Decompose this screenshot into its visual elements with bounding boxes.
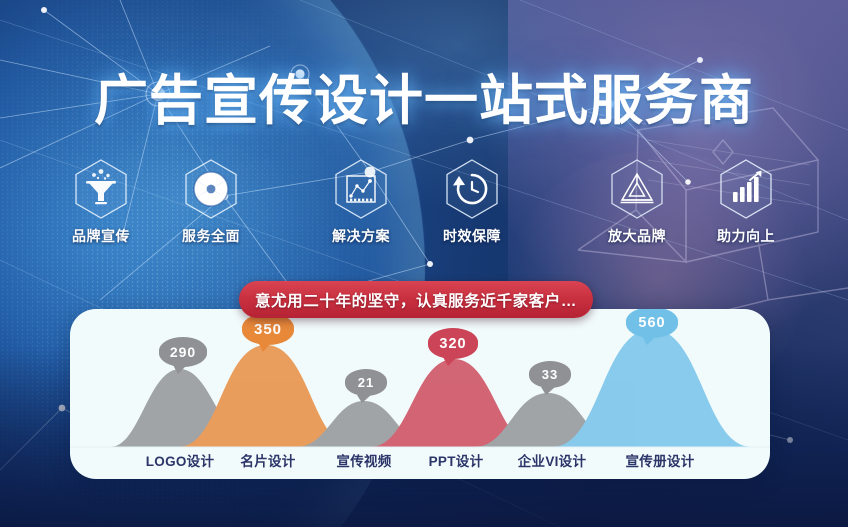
poster-canvas: 广告宣传设计一站式服务商 品牌宣 [0,0,848,527]
feature-item-1[interactable]: 品牌宣传 [53,158,149,246]
clock-arrow-icon [443,158,501,220]
bar-growth-icon [717,158,775,220]
value-bubble-vi: 33 [529,361,571,388]
feature-label-5: 放大品牌 [589,226,685,246]
feature-row: 品牌宣传 服务全面 [0,158,848,250]
category-label-4: PPT设计 [408,450,504,470]
feature-label-4: 时效保障 [424,226,520,246]
value-bubble-ppt: 320 [428,328,478,359]
feature-label-2: 服务全面 [163,226,259,246]
line-chart-icon [332,158,390,220]
feature-label-1: 品牌宣传 [53,226,149,246]
category-label-2: 名片设计 [220,450,316,470]
category-label-3: 宣传视频 [316,450,412,470]
category-axis: LOGO设计 名片设计 宣传视频 PPT设计 企业VI设计 宣传册设计 [70,450,770,472]
megaphone-icon [72,158,130,220]
feature-item-5[interactable]: 放大品牌 [589,158,685,246]
feature-label-3: 解决方案 [313,226,409,246]
category-label-5: 企业VI设计 [494,450,610,470]
value-bubble-logo: 290 [159,337,207,367]
page-title: 广告宣传设计一站式服务商 [0,56,848,135]
aperture-icon [182,158,240,220]
pyramid-icon [608,158,666,220]
feature-label-6: 助力向上 [698,226,794,246]
feature-item-4[interactable]: 时效保障 [424,158,520,246]
value-bubble-shipin: 21 [345,369,387,396]
tagline-banner: 意尤用二十年的坚守，认真服务近千家客户… [239,281,593,318]
feature-item-3[interactable]: 解决方案 [313,158,409,246]
category-label-6: 宣传册设计 [594,450,726,470]
curve-cece [552,329,752,447]
chart-card: 290 350 21 320 33 560 LOGO设计 名片设计 宣传视频 [70,309,770,479]
feature-item-6[interactable]: 助力向上 [698,158,794,246]
value-bubble-cece: 560 [626,309,678,338]
feature-item-2[interactable]: 服务全面 [163,158,259,246]
